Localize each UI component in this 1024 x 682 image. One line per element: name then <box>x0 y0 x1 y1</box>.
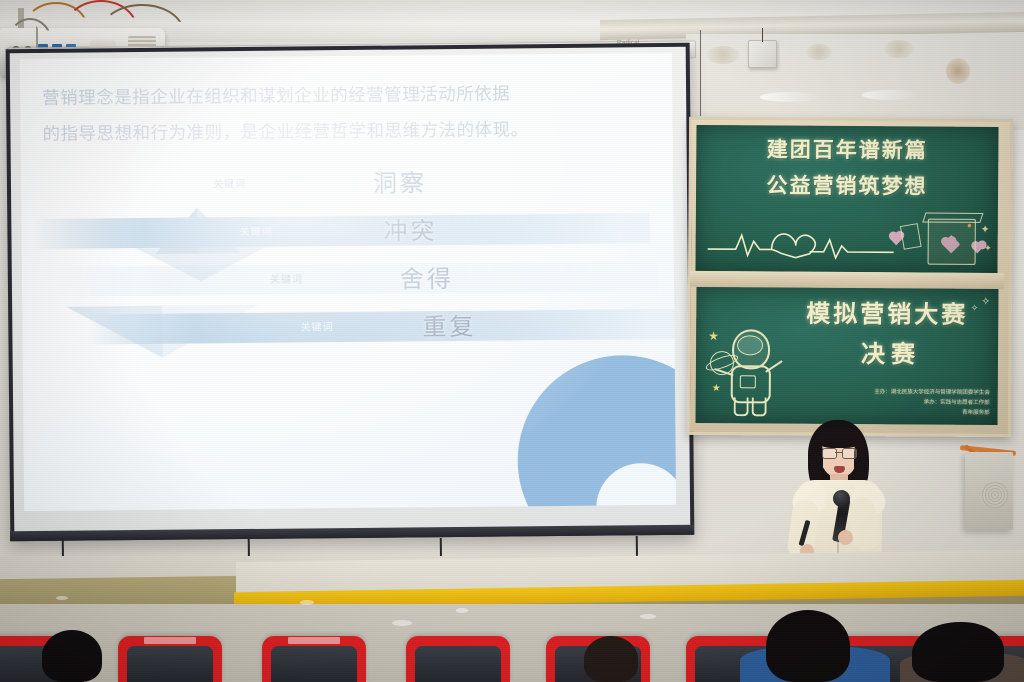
keyword-word: 洞察 <box>373 163 427 199</box>
astronaut-visor <box>737 335 763 355</box>
floor-scuff <box>392 620 412 626</box>
floor-scuff <box>300 600 314 605</box>
blackboard-top-line-2: 公益营销筑梦想 <box>696 169 998 201</box>
blackboard-bottom-panel: 模拟营销大赛 决赛 主办：湖北民族大学经济与管理学院团委学生会 承办：实践与志愿… <box>696 287 999 425</box>
speaker-grille-icon <box>982 482 1008 508</box>
audience-head <box>584 636 638 682</box>
sparkle-icon: ● <box>967 221 972 230</box>
seat-number-plate <box>288 637 340 644</box>
audience-head <box>912 622 1004 682</box>
slide-body-text: 营销理念是指企业在组织和谋划企业的经营管理活动所依据 的指导思想和行为准则，是企… <box>42 75 643 153</box>
keyword-word: 重复 <box>422 307 476 343</box>
keyword-list: 关键词 洞察 关键词 冲突 关键词 舍得 关键词 重复 <box>21 157 675 355</box>
keyword-band <box>88 309 674 345</box>
keyword-label: 关键词 <box>270 270 303 285</box>
keyword-label: 关键词 <box>213 175 246 190</box>
heart-icon <box>942 235 960 253</box>
star-icon: ★ <box>712 383 721 394</box>
audience-seat <box>406 636 510 682</box>
astronaut-chest-panel <box>740 375 756 388</box>
electrical-box <box>748 40 777 68</box>
glasses-lens <box>822 448 837 459</box>
glasses-lens <box>842 448 857 459</box>
floor-scuff <box>56 596 68 600</box>
wire <box>762 28 763 42</box>
audience-head <box>766 610 850 682</box>
floor-scuff <box>640 614 656 619</box>
wall-panel-right <box>686 34 1024 130</box>
note-card-icon <box>900 223 922 250</box>
astronaut-icon: ★ ★ <box>710 321 789 418</box>
sparkle-icon: ✦ <box>984 243 992 254</box>
slide-body-line-2: 的指导思想和行为准则，是企业经营哲学和思维方法的体现。 <box>42 111 642 153</box>
glasses-icon <box>822 448 856 457</box>
blackboard-top-line-1: 建团百年谱新篇 <box>696 133 998 165</box>
audience-head <box>42 630 102 682</box>
blackboard-credit-line-2: 承办：实践与志愿者工作部 <box>924 399 990 407</box>
blackboard-top-panel: 建团百年谱新篇 公益营销筑梦想 ✦ ✦ ● <box>695 125 998 273</box>
audience-seat <box>262 636 366 682</box>
keyword-row-2: 关键词 冲突 <box>21 205 673 259</box>
slide-body-line-1: 营销理念是指企业在组织和谋划企业的经营管理活动所依据 <box>42 75 642 117</box>
classroom-presentation-scene: Radical 营销理念是指企业在组织和谋划企业的经营管理活动所依据 的指导思想… <box>0 0 1024 682</box>
blackboard-credit-line-1: 主办：湖北民族大学经济与管理学院团委学生会 <box>874 388 990 397</box>
keyword-band <box>33 213 649 249</box>
audience-seat <box>118 636 222 682</box>
wire <box>700 30 701 116</box>
glasses-bridge <box>835 452 842 453</box>
keyword-band <box>58 261 658 297</box>
keyword-label: 关键词 <box>239 223 272 238</box>
sparkle-icon: ✧ <box>971 303 979 314</box>
blackboard-credit-line-3: 青年服务部 <box>962 409 990 417</box>
sparkle-icon: ✧ <box>981 295 990 308</box>
keyword-row-1: 关键词 洞察 <box>21 157 673 211</box>
seat-back <box>271 646 357 682</box>
astronaut-leg <box>752 397 767 416</box>
heartbeat-line-icon <box>706 223 896 260</box>
presenter-hand-right <box>838 530 853 545</box>
sparkle-icon: ✦ <box>981 223 990 236</box>
keyword-row-3: 关键词 舍得 <box>22 253 674 307</box>
keyword-row-4: 关键词 重复 <box>22 301 674 355</box>
seat-back <box>415 646 501 682</box>
seat-back <box>127 646 213 682</box>
keyword-word: 舍得 <box>400 259 454 295</box>
keyword-label: 关键词 <box>300 318 333 333</box>
keyword-word: 冲突 <box>383 211 437 247</box>
seat-number-plate <box>144 637 196 644</box>
floor-scuff <box>456 608 468 613</box>
astronaut-leg <box>734 397 749 416</box>
astronaut-arm <box>765 360 783 373</box>
star-icon: ★ <box>708 329 719 343</box>
projected-slide: 营销理念是指企业在组织和谋划企业的经营管理活动所依据 的指导思想和行为准则，是企… <box>20 53 676 511</box>
